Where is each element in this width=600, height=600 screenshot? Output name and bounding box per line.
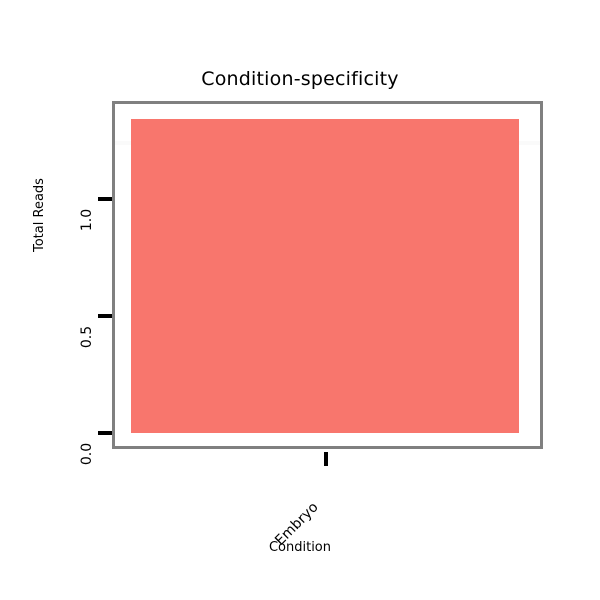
y-tick-mark-1 xyxy=(98,314,112,318)
y-tick-label-1: 0.5 xyxy=(79,317,95,357)
bar-embryo[interactable] xyxy=(131,119,519,433)
plot-panel xyxy=(112,101,543,449)
x-axis-title: Condition xyxy=(0,540,600,555)
x-tick-mark-0 xyxy=(324,452,328,466)
page-title: Condition-specificity xyxy=(0,68,600,90)
chart-root: Condition-specificity 0.0 0.5 1.0 Embryo… xyxy=(0,0,600,600)
y-tick-mark-2 xyxy=(98,197,112,201)
plot-area xyxy=(115,104,540,446)
y-axis-title: Total Reads xyxy=(32,178,47,252)
y-tick-label-0: 0.0 xyxy=(79,434,95,474)
y-tick-mark-0 xyxy=(98,431,112,435)
y-tick-label-2: 1.0 xyxy=(79,200,95,240)
